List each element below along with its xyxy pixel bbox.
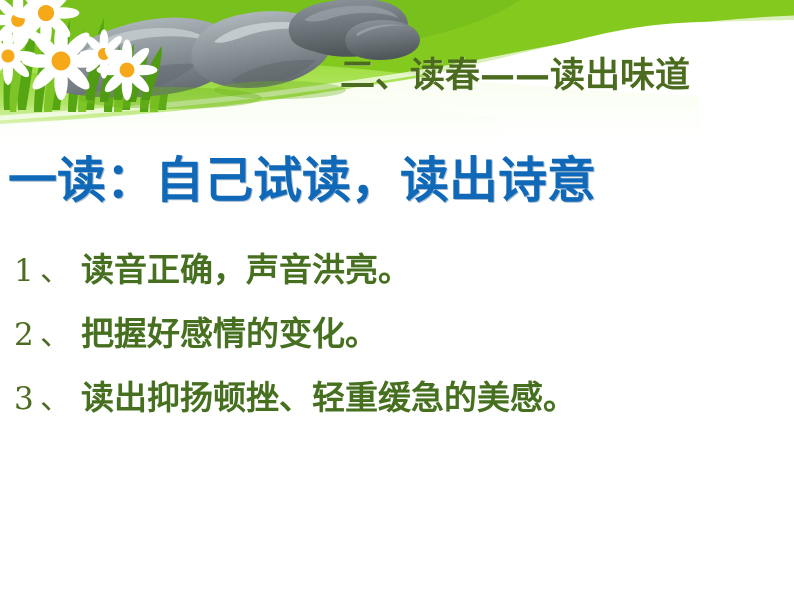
flower-center	[2, 50, 15, 63]
daisy-flower	[97, 40, 158, 101]
list-item: 1 、 读音正确，声音洪亮。	[14, 243, 774, 307]
list-item-number: 3	[14, 381, 40, 417]
instruction-list: 1 、 读音正确，声音洪亮。 2 、 把握好感情的变化。 3 、 读出抑扬顿挫、…	[14, 243, 774, 435]
flower-center	[52, 52, 71, 71]
page-title: 一读：自己试读，读出诗意	[8, 150, 708, 211]
daisy-flower	[22, 22, 100, 100]
rock-small	[345, 20, 420, 60]
list-item-label: 把握好感情的变化。	[81, 307, 378, 355]
list-item-number: 1	[14, 253, 40, 289]
list-item: 2 、 把握好感情的变化。	[14, 307, 774, 371]
list-item-separator: 、	[40, 309, 71, 354]
list-item-separator: 、	[40, 245, 71, 290]
list-item-label: 读出抑扬顿挫、轻重缓急的美感。	[81, 371, 576, 419]
section-title: 二、读春——读出味道	[340, 56, 770, 96]
list-item-label: 读音正确，声音洪亮。	[81, 243, 411, 291]
rock-shadow	[214, 81, 346, 99]
presentation-slide: 二、读春——读出味道 一读：自己试读，读出诗意 1 、 读音正确，声音洪亮。 2…	[0, 0, 794, 596]
list-item: 3 、 读出抑扬顿挫、轻重缓急的美感。	[14, 371, 774, 435]
flower-center	[38, 5, 54, 21]
list-item-number: 2	[14, 317, 40, 353]
flower-center	[120, 63, 135, 78]
list-item-separator: 、	[40, 373, 71, 418]
